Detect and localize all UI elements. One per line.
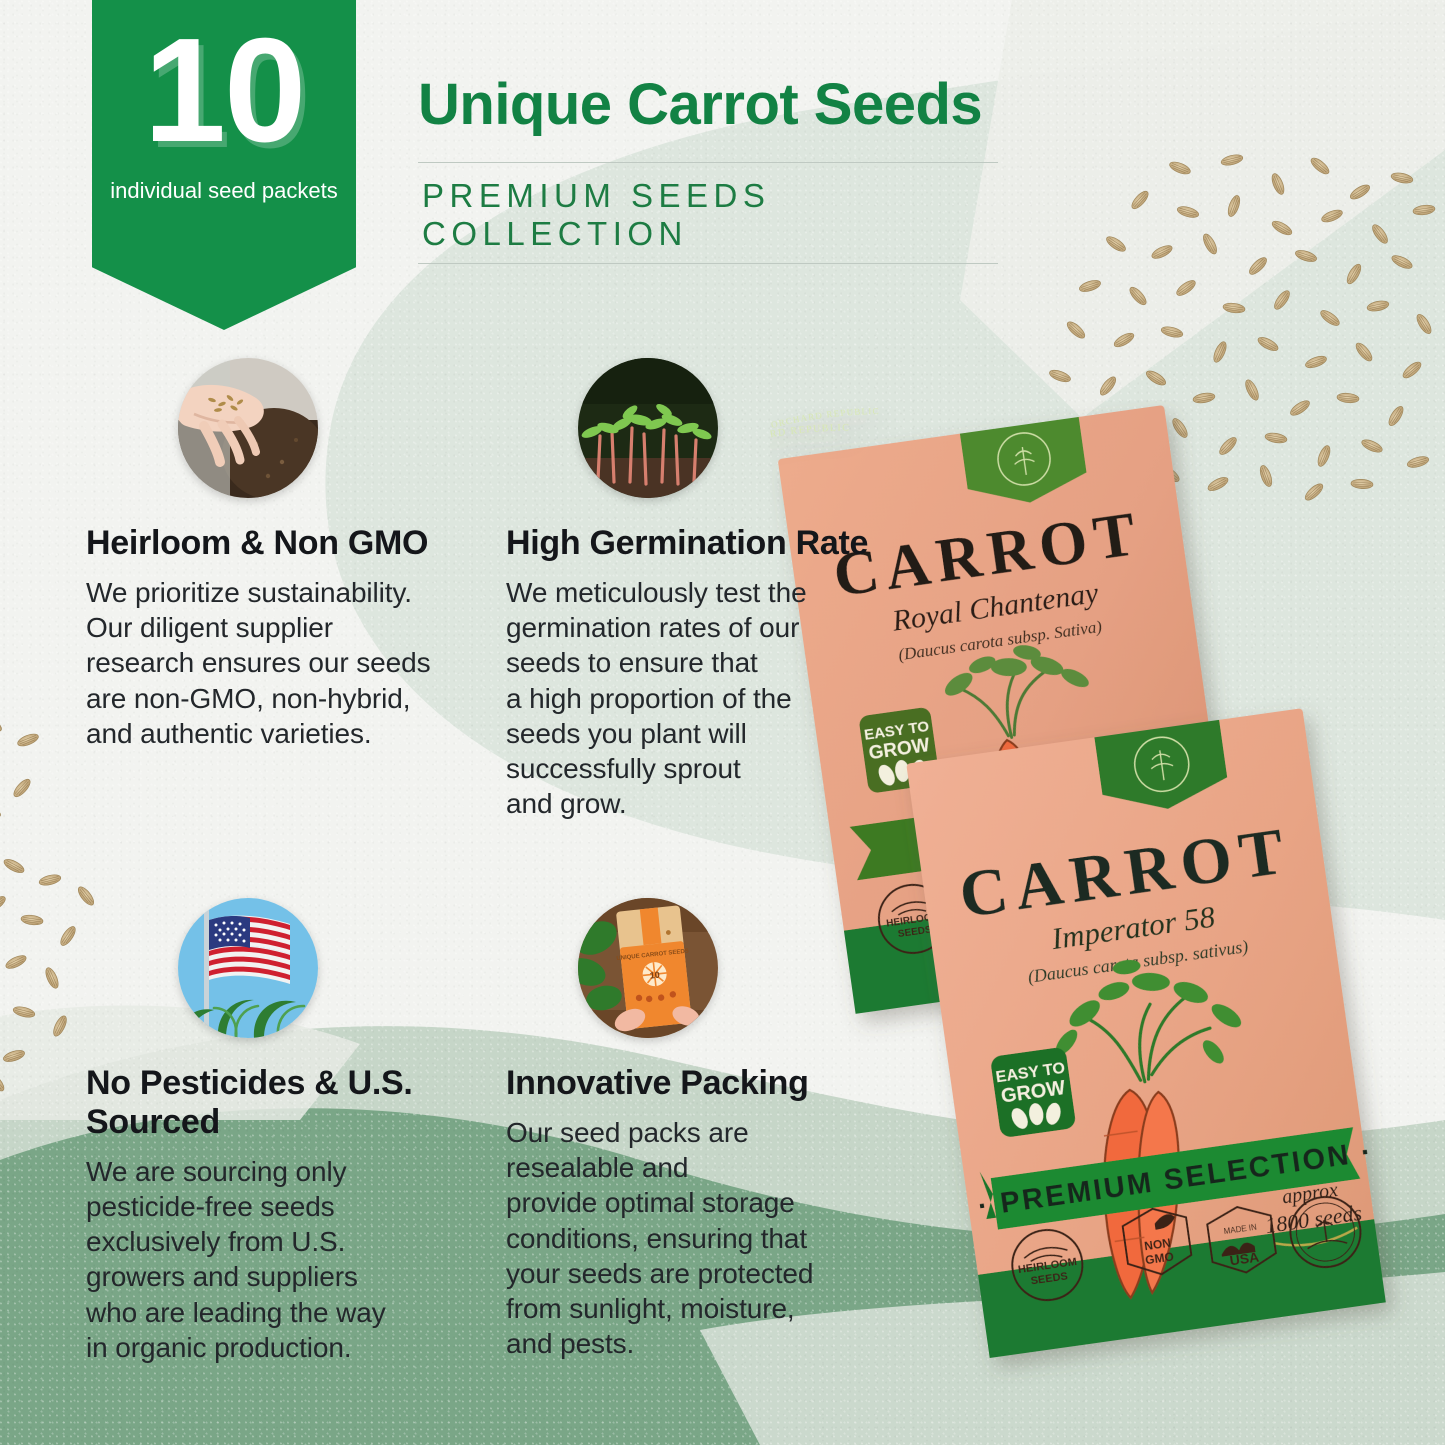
- feature-no-pesticides-us-sourced: No Pesticides & U.S. Sourced We are sour…: [86, 898, 466, 1365]
- feature-body: We meticulously test the germination rat…: [506, 575, 886, 822]
- hand-holding-seeds-icon: [178, 358, 318, 498]
- divider-bottom: [418, 263, 998, 264]
- seed-packet-count-badge: 10 individual seed packets: [92, 0, 356, 330]
- usa-flag-icon: [178, 898, 318, 1038]
- feature-high-germination-rate: High Germination Rate We meticulously te…: [506, 358, 886, 822]
- badge-caption: individual seed packets: [110, 177, 337, 206]
- feature-title: No Pesticides & U.S. Sourced: [86, 1064, 466, 1142]
- seedlings-sprouting-icon: [578, 358, 718, 498]
- feature-body: Our seed packs are resealable and provid…: [506, 1115, 886, 1362]
- badge-number: 10: [144, 18, 305, 163]
- feature-title: Innovative Packing: [506, 1064, 886, 1103]
- page-subtitle: PREMIUM SEEDS COLLECTION: [418, 163, 1018, 263]
- feature-body: We are sourcing only pesticide-free seed…: [86, 1154, 466, 1366]
- page-title: Unique Carrot Seeds: [418, 74, 1018, 135]
- feature-title: Heirloom & Non GMO: [86, 524, 466, 563]
- easy-to-grow-badge: EASY TO GROW: [990, 1046, 1077, 1138]
- seed-pack-in-hand-icon: 10 UNIQUE CARROT SEEDS: [578, 898, 718, 1038]
- feature-innovative-packing: 10 UNIQUE CARROT SEEDS Innovative Packin…: [506, 898, 886, 1362]
- feature-heirloom-non-gmo: Heirloom & Non GMO We prioritize sustain…: [86, 358, 466, 751]
- header: Unique Carrot Seeds PREMIUM SEEDS COLLEC…: [418, 74, 1018, 264]
- svg-text:10: 10: [649, 970, 660, 981]
- feature-title: High Germination Rate: [506, 524, 886, 563]
- subtitle-block: PREMIUM SEEDS COLLECTION: [418, 162, 1018, 264]
- feature-body: We prioritize sustainability. Our dilige…: [86, 575, 466, 751]
